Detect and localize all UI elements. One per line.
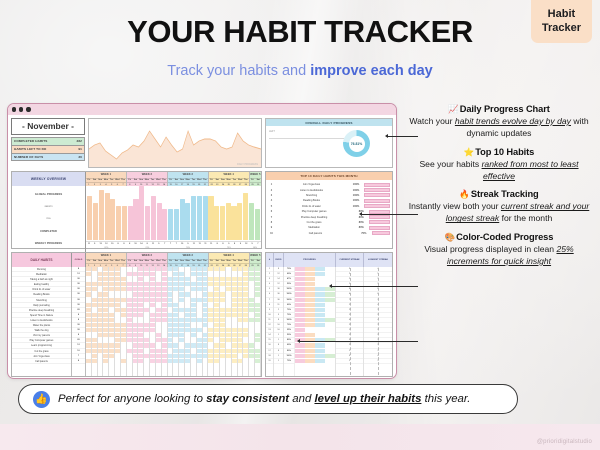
habit-cell[interactable] <box>86 359 91 364</box>
weekly-bar <box>93 203 98 241</box>
weekly-bar <box>249 203 254 241</box>
maximize-icon[interactable] <box>26 107 30 111</box>
top-10-name: Drink 2L of water <box>275 205 348 208</box>
top-10-rank: 9 <box>268 226 275 229</box>
annotation-text: Instantly view both your current streak … <box>404 201 594 225</box>
weekly-bar <box>139 186 144 240</box>
streak-days: 1 <box>274 359 283 364</box>
top-10-name: Stretching <box>275 194 348 197</box>
habit-cell[interactable] <box>173 359 178 364</box>
weekly-bar <box>168 209 173 240</box>
annotation-icon: 📈 <box>448 104 458 114</box>
weekly-bar <box>151 196 156 240</box>
streak-progress-block <box>325 359 335 364</box>
week-header: WEEK 5FriSat2930 <box>250 253 261 267</box>
watermark: @prioridigitalstudio <box>537 439 592 445</box>
habit-cell[interactable] <box>156 359 161 364</box>
streak-table[interactable]: # DAYS PROGRESS CURRENT STREAK LONGEST S… <box>265 252 393 377</box>
streak-num-column: 12345678910111213141516171819 <box>266 267 274 376</box>
habit-cell[interactable] <box>249 359 254 364</box>
annotation-icon: 🔥 <box>459 189 469 199</box>
streak-progress-block-column <box>305 267 315 376</box>
footer-band <box>0 424 600 450</box>
callout-bold-1: stay consistent <box>206 393 289 405</box>
weekly-bar <box>214 206 219 240</box>
stat-row: NUMBER OF DAYS30 <box>11 153 85 161</box>
stat-value: 282 <box>77 139 82 143</box>
callout-pre: Perfect for anyone looking to <box>58 393 206 405</box>
weekly-bar <box>180 199 185 240</box>
leader-line-top10 <box>362 214 418 215</box>
habit-cell[interactable] <box>98 359 103 364</box>
top-10-habits-panel[interactable]: TOP 10 DAILY HABITS THIS MONTH 1Join Yog… <box>265 171 393 249</box>
goals-header: GOALS <box>72 253 86 267</box>
habit-name-column: RunningMeditationTaking a bath at nightE… <box>12 267 72 376</box>
overall-daily-progress-panel[interactable]: OVERALL DAILY PROGRESS LEFT 76.81% <box>265 118 393 168</box>
leader-line-color-coded <box>300 341 418 342</box>
habit-cell[interactable] <box>191 359 196 364</box>
weekly-bar <box>122 206 127 240</box>
top-10-percent: 100% <box>348 183 364 186</box>
window-titlebar <box>8 104 396 115</box>
weekly-bar <box>116 206 121 240</box>
weekly-percent: 74% <box>127 247 168 252</box>
weekly-bar <box>191 196 196 240</box>
top-10-row: 10Call parents70% <box>268 231 390 236</box>
habit-cell[interactable] <box>162 359 167 364</box>
top-10-bar <box>372 231 390 235</box>
streak-header-progress: PROGRESS <box>284 253 336 267</box>
stat-value: 30 <box>78 155 82 159</box>
subtitle-plain: Track your habits and <box>167 63 310 79</box>
streak-progress-block <box>315 359 325 364</box>
week-header: WEEK 2FriSatSunMonTueWedThu891011121314 <box>127 172 168 186</box>
annotation: 🔥Streak TrackingInstantly view both your… <box>404 189 594 225</box>
daily-habits-title: DAILY HABITS <box>12 253 72 267</box>
habit-cell[interactable] <box>243 359 248 364</box>
weekly-bar <box>203 196 208 240</box>
habit-cell[interactable] <box>220 359 225 364</box>
chart-caption: DAILY PROGRESS <box>237 163 258 166</box>
top-10-rank: 7 <box>268 216 275 219</box>
annotation-title: ⭐Top 10 Habits <box>404 147 594 158</box>
top-10-bar <box>364 204 390 208</box>
daily-habits-week-headers: WEEK 1FriSatSunMonTueWedThu1234567WEEK 2… <box>86 253 261 267</box>
streak-progress-block <box>305 359 315 364</box>
top-10-bar <box>369 226 390 230</box>
habit-cell[interactable] <box>238 359 243 364</box>
top-10-rank: 4 <box>268 199 275 202</box>
habit-cell[interactable] <box>226 359 231 364</box>
week-header: WEEK 3FriSatSunMonTueWedThu1516171819202… <box>168 253 209 267</box>
weekly-bar <box>128 206 133 240</box>
top-10-name: Play Computer games <box>275 210 353 213</box>
streak-current-column: 3221867221421132232 <box>336 267 364 376</box>
area-chart-svg <box>89 119 261 167</box>
page-title: YOUR HABIT TRACKER <box>0 14 600 50</box>
stat-row: HABITS LEFT TO DO91 <box>11 145 85 153</box>
weekly-bar <box>145 206 150 240</box>
top-10-name: Meditation <box>275 226 353 229</box>
habit-cell[interactable] <box>255 359 260 364</box>
habit-cell[interactable] <box>115 359 120 364</box>
top-10-bar <box>369 215 390 219</box>
daily-habits-body: RunningMeditationTaking a bath at nightE… <box>12 267 261 376</box>
weekly-bar-chart: 1191312108881014811977710911111111889891… <box>86 186 261 252</box>
annotation-emphasis: current streak and your longest streak <box>446 201 590 223</box>
top-10-percent: 80% <box>353 221 369 224</box>
top-10-name: Call parents <box>275 232 356 235</box>
streak-header-longest: LONGEST STREAK <box>364 253 392 267</box>
weekly-overview-body: GLOBAL PROGRESS282/37376%COMPLETEDWEEKLY… <box>12 186 261 252</box>
habit-cell[interactable] <box>214 359 219 364</box>
weekly-bar <box>226 203 231 241</box>
annotation: 📈Daily Progress ChartWatch your habit tr… <box>404 104 594 140</box>
streak-current: 2 <box>336 359 363 364</box>
callout-post: this year. <box>421 393 470 405</box>
top-10-percent: 100% <box>348 194 364 197</box>
weekly-bar <box>110 199 115 240</box>
spreadsheet-window[interactable]: - November - COMPLETED HABITS282HABITS L… <box>7 103 397 379</box>
annotation-emphasis: habit trends evolve day by day <box>455 116 571 126</box>
habit-cell[interactable] <box>185 359 190 364</box>
streak-header-current: CURRENT STREAK <box>336 253 364 267</box>
weekly-label: WEEKLY PROGRESS <box>35 242 62 245</box>
top-10-rank: 3 <box>268 194 275 197</box>
streak-percent: 70% <box>284 359 294 364</box>
weekly-overview-title: WEEKLY OVERVIEW <box>12 172 86 186</box>
weekly-label: GLOBAL PROGRESS <box>35 193 62 196</box>
weekly-bar <box>87 196 92 240</box>
daily-habits-table[interactable]: DAILY HABITS GOALS WEEK 1FriSatSunMonTue… <box>11 252 262 377</box>
top-10-rank: 5 <box>268 205 275 208</box>
week-header: WEEK 1FriSatSunMonTueWedThu1234567 <box>86 172 127 186</box>
donut-divider <box>269 138 346 139</box>
weekly-bar <box>185 203 190 241</box>
month-selector[interactable]: - November - <box>11 118 85 135</box>
callout-bold-2: level up their habits <box>314 393 421 405</box>
annotation-emphasis: ranked from most to least effective <box>482 159 579 181</box>
top-10-name: Listen to Audiobooks <box>275 189 348 192</box>
week-header: WEEK 4FriSatSunMonTueWedThu2223242526272… <box>209 253 250 267</box>
callout-text: Perfect for anyone looking to stay consi… <box>58 393 470 405</box>
weekly-percent: 76% <box>168 247 209 252</box>
habit-day-column[interactable] <box>255 267 261 376</box>
habit-checkbox-grid[interactable] <box>86 267 261 376</box>
weekly-bar <box>243 193 248 240</box>
habit-cell[interactable] <box>179 359 184 364</box>
habit-cell[interactable] <box>109 359 114 364</box>
stat-row: COMPLETED HABITS282 <box>11 137 85 145</box>
donut-header: OVERALL DAILY PROGRESS <box>266 119 392 126</box>
week-header: WEEK 5FriSat2930 <box>250 172 261 186</box>
minimize-icon[interactable] <box>19 107 23 111</box>
weekly-label: 282/373 <box>45 206 53 208</box>
annotation-text: Watch your habit trends evolve day by da… <box>404 116 594 140</box>
callout-mid: and <box>289 393 314 405</box>
top-10-bar <box>369 220 390 224</box>
streak-progress-block-column <box>295 267 305 376</box>
top-10-rank: 2 <box>268 189 275 192</box>
weekly-bar <box>208 196 213 240</box>
annotation-text: See your habits ranked from most to leas… <box>404 159 594 183</box>
summary-row: - November - COMPLETED HABITS282HABITS L… <box>11 118 393 168</box>
streak-header-days: DAYS <box>274 253 284 267</box>
top-10-bar <box>364 183 390 187</box>
top-10-name: Cut the grass <box>275 221 353 224</box>
donut-left-label: LEFT <box>269 130 275 133</box>
habit-cell[interactable] <box>144 359 149 364</box>
donut-body: LEFT 76.81% <box>266 126 392 167</box>
top-10-percent: 100% <box>348 189 364 192</box>
week-header: WEEK 1FriSatSunMonTueWedThu1234567 <box>86 253 127 267</box>
top-10-name: Practice deep breathing <box>275 216 353 219</box>
habit-cell[interactable] <box>232 359 237 364</box>
close-icon[interactable] <box>12 107 16 111</box>
bottom-callout: 👍 Perfect for anyone looking to stay con… <box>18 384 518 414</box>
streak-progress-block-column <box>315 267 325 376</box>
stats-list: COMPLETED HABITS282HABITS LEFT TO DO91NU… <box>11 137 85 162</box>
top-10-percent: 100% <box>348 205 364 208</box>
weekly-bar <box>255 209 260 240</box>
habit-cell[interactable] <box>138 359 143 364</box>
annotation-title: 🎨Color-Coded Progress <box>404 232 594 243</box>
top-10-rank: 1 <box>268 183 275 186</box>
stat-label: COMPLETED HABITS <box>14 139 47 143</box>
streak-percent-column: 70%60%47%50%100%100%100%60%70%70%100%70%… <box>284 267 295 376</box>
weekly-percent: 73% <box>208 247 249 252</box>
annotation-title: 📈Daily Progress Chart <box>404 104 594 115</box>
weekly-bar <box>162 209 167 240</box>
month-and-stats: - November - COMPLETED HABITS282HABITS L… <box>11 118 85 168</box>
habit-cell[interactable] <box>150 359 155 364</box>
weekly-bar <box>197 196 202 240</box>
top-10-percent: 80% <box>353 226 369 229</box>
streak-progress-block <box>295 359 305 364</box>
streak-days-column: 8121412303030112381010118811 <box>274 267 284 376</box>
top-10-percent: 70% <box>356 232 372 235</box>
leader-line-daily-chart <box>388 136 418 137</box>
top-10-name: Join Yoga class <box>275 183 348 186</box>
habit-cell[interactable] <box>121 359 126 364</box>
top-10-bar <box>364 193 390 197</box>
weekly-bar <box>99 190 104 241</box>
top-10-bar <box>364 188 390 192</box>
stat-label: HABITS LEFT TO DO <box>14 147 46 151</box>
top-10-rank: 6 <box>268 210 275 213</box>
annotation-icon: ⭐ <box>464 147 474 157</box>
daily-progress-chart[interactable]: DAILY PROGRESS <box>88 118 262 168</box>
weekly-row: WEEKLY OVERVIEW WEEK 1FriSatSunMonTueWed… <box>11 171 393 249</box>
streak-num: 19 <box>266 359 273 364</box>
annotation-title: 🔥Streak Tracking <box>404 189 594 200</box>
annotation: 🎨Color-Coded ProgressVisual progress dis… <box>404 232 594 268</box>
habit-goal: 8 <box>72 359 85 364</box>
habit-name: Call parents <box>12 359 71 364</box>
annotation-icon: 🎨 <box>445 232 455 242</box>
weekly-bar <box>133 199 138 240</box>
weekly-bar <box>231 206 236 240</box>
annotation: ⭐Top 10 HabitsSee your habits ranked fro… <box>404 147 594 183</box>
stat-value: 91 <box>78 147 82 151</box>
weekly-bar <box>105 193 110 240</box>
weekly-percent: 82% <box>86 247 127 252</box>
weekly-bar <box>157 203 162 241</box>
habit-cell[interactable] <box>208 359 213 364</box>
top-10-name: Reading Books <box>275 199 348 202</box>
weekly-overview-header: WEEKLY OVERVIEW WEEK 1FriSatSunMonTueWed… <box>12 172 261 186</box>
habit-cell[interactable] <box>197 359 202 364</box>
weekly-percent-row: 82%74%76%73%84% <box>86 247 261 252</box>
habit-cell[interactable] <box>92 359 97 364</box>
streak-header-row: # DAYS PROGRESS CURRENT STREAK LONGEST S… <box>266 253 392 267</box>
weekly-overview-labels: GLOBAL PROGRESS282/37376%COMPLETEDWEEKLY… <box>12 186 86 252</box>
leader-line-streak <box>332 286 418 287</box>
weekly-bar <box>174 209 179 240</box>
week-header: WEEK 4FriSatSunMonTueWedThu2223242526272… <box>209 172 250 186</box>
weekly-overview-panel[interactable]: WEEKLY OVERVIEW WEEK 1FriSatSunMonTueWed… <box>11 171 262 249</box>
top-10-bar <box>364 199 390 203</box>
top-10-header: TOP 10 DAILY HABITS THIS MONTH <box>266 172 392 180</box>
habits-row: DAILY HABITS GOALS WEEK 1FriSatSunMonTue… <box>11 252 393 377</box>
weekly-bar <box>237 203 242 241</box>
habit-cell[interactable] <box>103 359 108 364</box>
annotation-text: Visual progress displayed in clean 25% i… <box>404 244 594 268</box>
streak-header-num: # <box>266 253 274 267</box>
week-header: WEEK 3FriSatSunMonTueWedThu1516171819202… <box>168 172 209 186</box>
top-10-rank: 8 <box>268 221 275 224</box>
habit-cell[interactable] <box>127 359 132 364</box>
weekly-percent: 84% <box>249 247 261 252</box>
week-headers: WEEK 1FriSatSunMonTueWedThu1234567WEEK 2… <box>86 172 261 186</box>
feature-annotations: 📈Daily Progress ChartWatch your habit tr… <box>404 104 594 275</box>
sheet-content: - November - COMPLETED HABITS282HABITS L… <box>8 115 396 379</box>
streak-longest: 3 <box>364 359 392 364</box>
top-10-percent: 100% <box>348 199 364 202</box>
daily-habits-header: DAILY HABITS GOALS WEEK 1FriSatSunMonTue… <box>12 253 261 267</box>
subtitle-bold: improve each day <box>310 63 433 79</box>
habit-cell[interactable] <box>133 359 138 364</box>
habit-cell[interactable] <box>168 359 173 364</box>
annotation-emphasis: 25% increments for quick insight <box>447 244 574 266</box>
page-subtitle: Track your habits and improve each day <box>0 63 600 79</box>
stat-label: NUMBER OF DAYS <box>14 155 43 159</box>
habit-goal-column: 81230303030303020883030820121078 <box>72 267 86 376</box>
streak-longest-column: 4533867432432233343 <box>364 267 392 376</box>
donut-chart: 76.81% <box>343 130 370 157</box>
top-10-rank: 10 <box>268 232 275 235</box>
habit-cell[interactable] <box>203 359 208 364</box>
donut-value: 76.81% <box>351 142 363 146</box>
week-header: WEEK 2FriSatSunMonTueWedThu891011121314 <box>127 253 168 267</box>
weekly-label: 76% <box>46 218 50 220</box>
weekly-bar <box>220 206 225 240</box>
thumbs-up-icon: 👍 <box>33 391 50 408</box>
weekly-label: COMPLETED <box>40 230 57 233</box>
